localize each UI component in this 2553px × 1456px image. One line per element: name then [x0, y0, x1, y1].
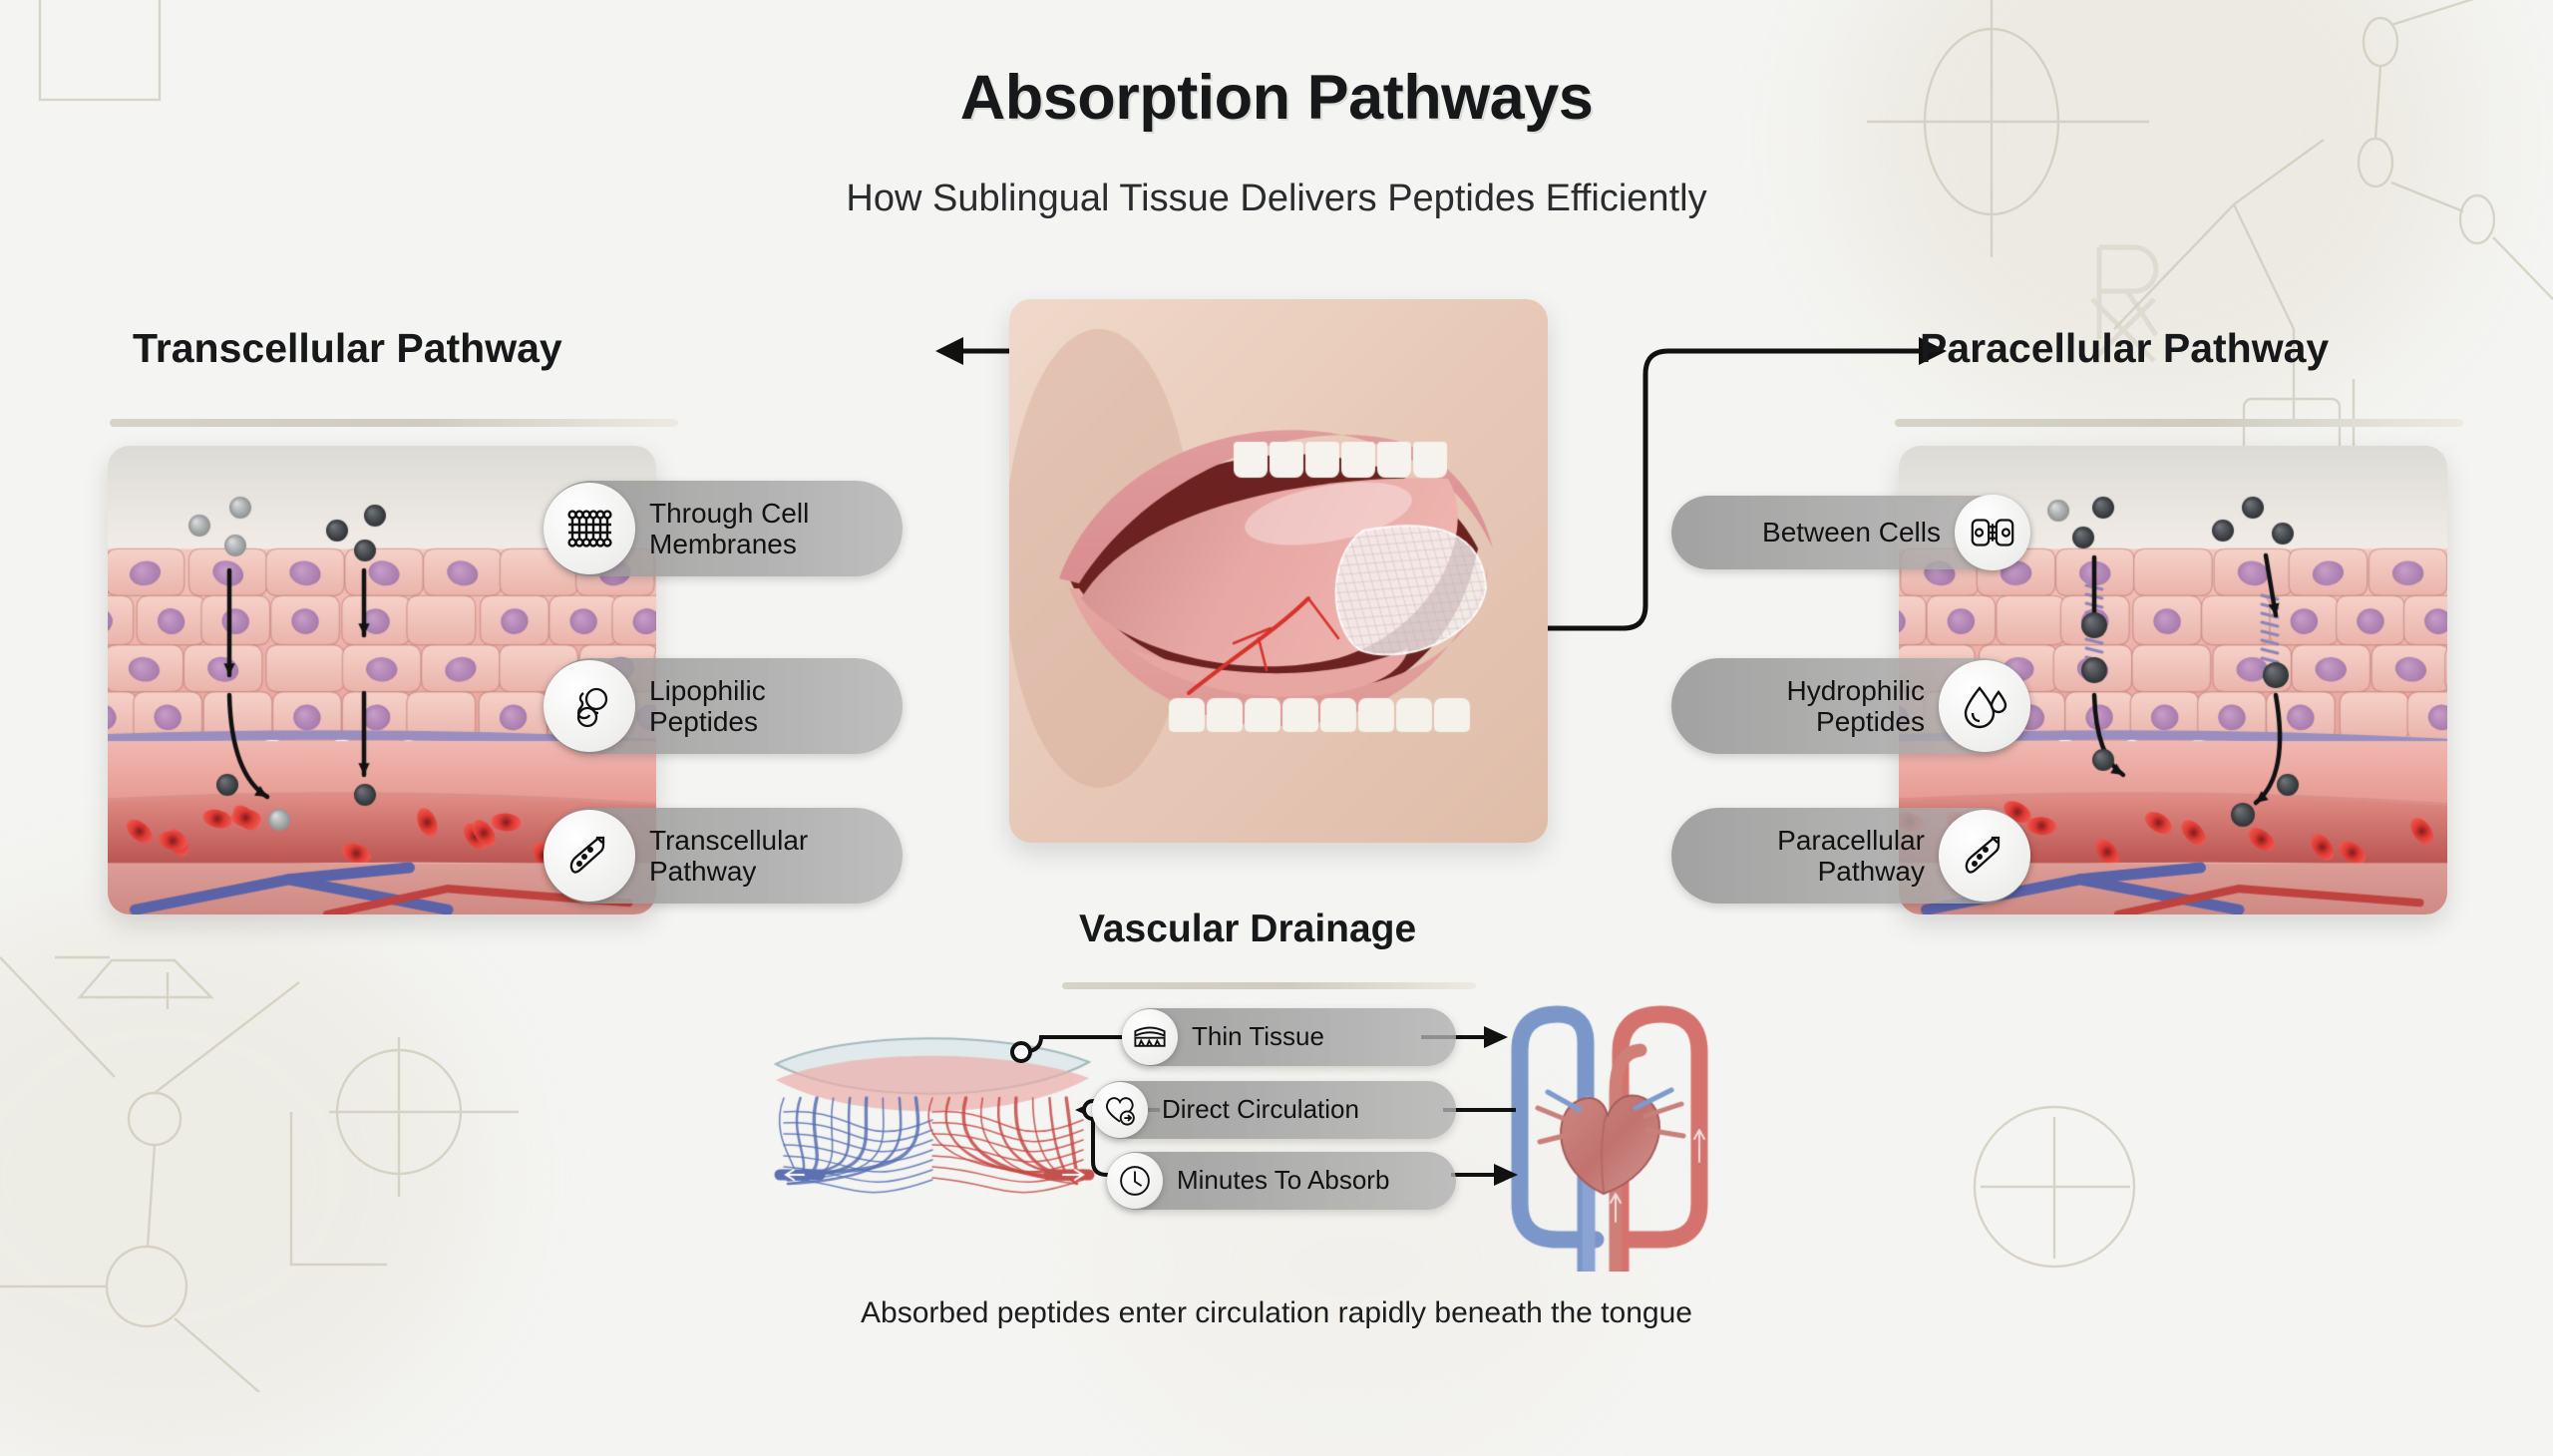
section-rule-bottom	[1062, 982, 1476, 989]
page-title: Absorption Pathways	[0, 62, 2553, 134]
pill-label: Thin Tissue	[1192, 1022, 1352, 1051]
section-heading-vascular-drainage: Vascular Drainage	[1079, 908, 1416, 951]
page-subtitle: How Sublingual Tissue Delivers Peptides …	[0, 178, 2553, 220]
pill-label: Between Cells	[1732, 517, 1941, 547]
pill-between-cells[interactable]: Between Cells	[1671, 496, 2030, 569]
section-heading-transcellular: Transcellular Pathway	[133, 325, 562, 372]
pill-thin-tissue[interactable]: Thin Tissue	[1122, 1008, 1456, 1066]
pill-paracellular-pathway[interactable]: Paracellular Pathway	[1671, 808, 2030, 904]
lipid-bilayer-icon	[544, 483, 635, 574]
center-to-right-connector	[1536, 329, 1955, 658]
water-droplet-icon	[1939, 660, 2030, 752]
pill-transcellular-pathway[interactable]: Transcellular Pathway	[544, 808, 903, 904]
pill-lipophilic-peptides[interactable]: Lipophilic Peptides	[544, 658, 903, 754]
heart-circulation-illustration	[1476, 982, 1740, 1272]
pill-hydrophilic-peptides[interactable]: Hydrophilic Peptides	[1671, 658, 2030, 754]
pill-label: Direct Circulation	[1162, 1095, 1387, 1124]
pill-label: Through Cell Membranes	[649, 498, 837, 560]
capillary-bed-illustration	[758, 1012, 1107, 1247]
vesicle-transport-icon	[544, 810, 635, 902]
pill-label: Paracellular Pathway	[1747, 825, 1925, 888]
heart-arrow-icon	[1092, 1082, 1148, 1138]
tissue-layers-icon	[1122, 1009, 1178, 1065]
section-rule-right	[1895, 419, 2463, 427]
pill-label: Minutes To Absorb	[1177, 1166, 1417, 1195]
pill-minutes-to-absorb[interactable]: Minutes To Absorb	[1107, 1152, 1456, 1210]
pill-label: Hydrophilic Peptides	[1757, 675, 1926, 738]
pill-label: Transcellular Pathway	[649, 825, 836, 888]
mouth-tongue-photo	[1009, 299, 1548, 843]
section-rule-left	[110, 419, 678, 427]
tight-junction-icon	[1955, 495, 2030, 570]
lipid-droplet-icon	[544, 660, 635, 752]
bottom-caption: Absorbed peptides enter circulation rapi…	[0, 1296, 2553, 1330]
vesicle-transport-icon	[1939, 810, 2030, 902]
pill-through-cell-membranes[interactable]: Through Cell Membranes	[544, 481, 903, 576]
clock-icon	[1107, 1153, 1163, 1209]
pill-direct-circulation[interactable]: Direct Circulation	[1092, 1081, 1456, 1139]
infographic-canvas: Absorption Pathways How Sublingual Tissu…	[0, 0, 2553, 1392]
section-heading-paracellular: Paracellular Pathway	[1920, 325, 2329, 372]
pill-label: Lipophilic Peptides	[649, 675, 794, 738]
